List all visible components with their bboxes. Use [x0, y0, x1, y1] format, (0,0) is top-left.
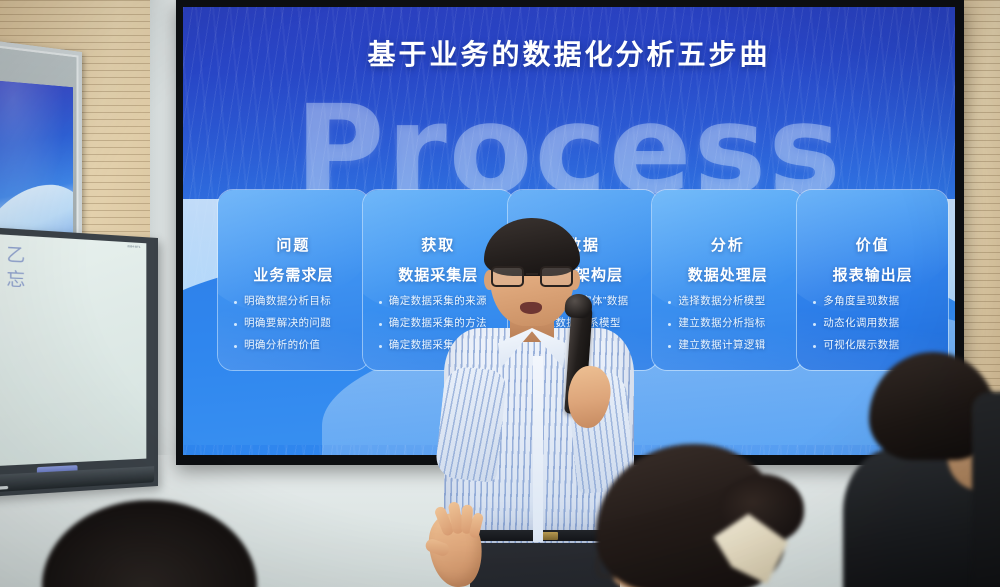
card-bullet: 动态化调用数据 [810, 318, 941, 329]
microphone-head [564, 293, 593, 319]
step-card-5: 价值 报表输出层 多角度呈现数据 动态化调用数据 可视化展示数据 [796, 189, 949, 371]
presenter-mouth [520, 302, 542, 314]
presenter-hand-left [426, 511, 485, 587]
card-step-title: 问题 [225, 234, 362, 255]
card-layer-title: 数据处理层 [659, 264, 796, 285]
step-card-1: 问题 业务需求层 明确数据分析目标 明确要解决的问题 明确分析的价值 [217, 189, 370, 371]
card-bullet: 明确要解决的问题 [231, 318, 362, 329]
glasses-lens-right [540, 266, 573, 287]
card-bullet: 多角度呈现数据 [810, 296, 941, 307]
card-step-title: 分析 [659, 234, 796, 255]
card-bullet: 建立数据分析指标 [665, 318, 796, 329]
audience-member-center [560, 436, 830, 587]
presenter-shirt-placket [533, 356, 543, 542]
card-step-title: 价值 [804, 234, 941, 255]
card-bullet: 建立数据计算逻辑 [665, 340, 796, 351]
step-card-4: 分析 数据处理层 选择数据分析模型 建立数据分析指标 建立数据计算逻辑 [651, 189, 804, 371]
glasses-bridge [526, 273, 538, 275]
card-bullet-list: 多角度呈现数据 动态化调用数据 可视化展示数据 [804, 296, 941, 351]
whiteboard-marker [0, 486, 8, 491]
card-bullet: 选择数据分析模型 [665, 296, 796, 307]
card-layer-title: 业务需求层 [225, 264, 362, 285]
presenter-glasses [490, 266, 574, 288]
presentation-room-scene: 出层 示数据 8084-BT1 乙 乙 字 忘 幻 Process 基于业务的数… [0, 0, 1000, 587]
card-layer-title: 报表输出层 [804, 264, 941, 285]
presenter-arm-left [434, 365, 507, 483]
card-bullet-list: 选择数据分析模型 建立数据分析指标 建立数据计算逻辑 [659, 296, 796, 351]
card-bullet: 明确分析的价值 [231, 340, 362, 351]
card-bullet: 明确数据分析目标 [231, 296, 362, 307]
card-bullet-list: 明确数据分析目标 明确要解决的问题 明确分析的价值 [225, 296, 362, 351]
whiteboard-handwriting: 乙 乙 字 忘 幻 [0, 242, 33, 438]
whiteboard-label-code: 8084-BT1 [127, 244, 140, 249]
glasses-lens-left [491, 266, 524, 287]
slide-title: 基于业务的数据化分析五步曲 [183, 33, 955, 73]
whiteboard-surface: 8084-BT1 乙 乙 字 忘 幻 [0, 233, 146, 467]
audience-member-far-right [972, 392, 1000, 587]
whiteboard: 8084-BT1 乙 乙 字 忘 幻 [0, 226, 158, 498]
card-bullet: 可视化展示数据 [810, 340, 941, 351]
